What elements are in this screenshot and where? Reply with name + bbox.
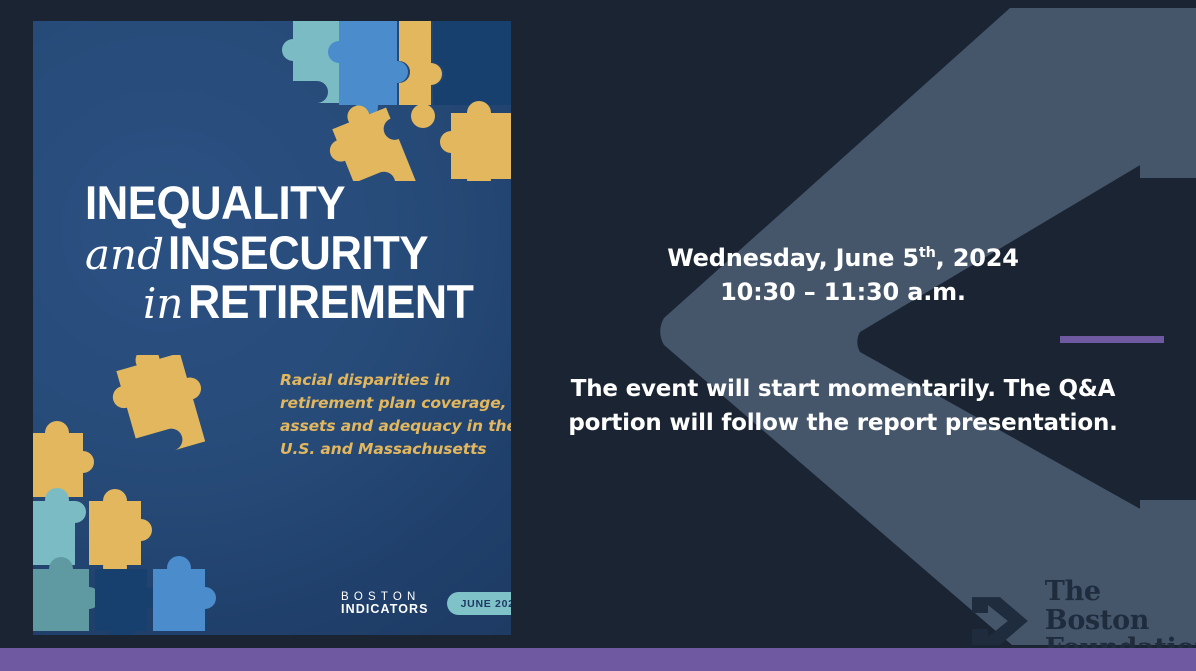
event-message: The event will start momentarily. The Q&… [568, 372, 1118, 441]
report-title: INEQUALITY and INSECURITY in RETIREMENT [85, 180, 485, 326]
boston-indicators-logo: BOSTON INDICATORS [341, 592, 429, 616]
report-cover-footer: BOSTON INDICATORS JUNE 2024 [341, 592, 511, 616]
report-title-and: and [85, 230, 164, 279]
event-datetime: Wednesday, June 5th, 2024 10:30 – 11:30 … [560, 241, 1126, 309]
report-title-insecurity: INSECURITY [168, 230, 428, 277]
report-cover-image: INEQUALITY and INSECURITY in RETIREMENT … [33, 21, 511, 635]
report-title-line-1: INEQUALITY [85, 180, 485, 227]
report-title-line-3: in RETIREMENT [85, 279, 485, 326]
bottom-accent-strip [0, 648, 1196, 671]
report-title-inequality: INEQUALITY [85, 180, 345, 227]
boston-indicators-logo-bottom: INDICATORS [341, 603, 429, 616]
report-date-badge: JUNE 2024 [447, 592, 511, 615]
chevron-upper-block [1140, 8, 1196, 178]
report-subtitle: Racial disparities in retirement plan co… [280, 369, 511, 461]
boston-foundation-line-1: The Boston [1045, 578, 1196, 635]
event-date-ordinal: th [919, 245, 936, 261]
presentation-slide: INEQUALITY and INSECURITY in RETIREMENT … [0, 0, 1196, 671]
boston-foundation-mark-icon [968, 593, 1032, 649]
event-time-line: 10:30 – 11:30 a.m. [560, 275, 1126, 309]
report-title-retirement: RETIREMENT [188, 279, 473, 326]
event-date-line: Wednesday, June 5th, 2024 [560, 241, 1126, 275]
accent-bar [1060, 336, 1164, 343]
event-date-prefix: Wednesday, June 5 [667, 244, 919, 272]
report-title-line-2: and INSECURITY [85, 230, 485, 277]
report-title-in: in [143, 279, 183, 328]
event-date-suffix: , 2024 [936, 244, 1019, 272]
puzzle-pieces-top-icon [279, 21, 511, 181]
puzzle-pieces-bottom-icon [33, 355, 273, 635]
